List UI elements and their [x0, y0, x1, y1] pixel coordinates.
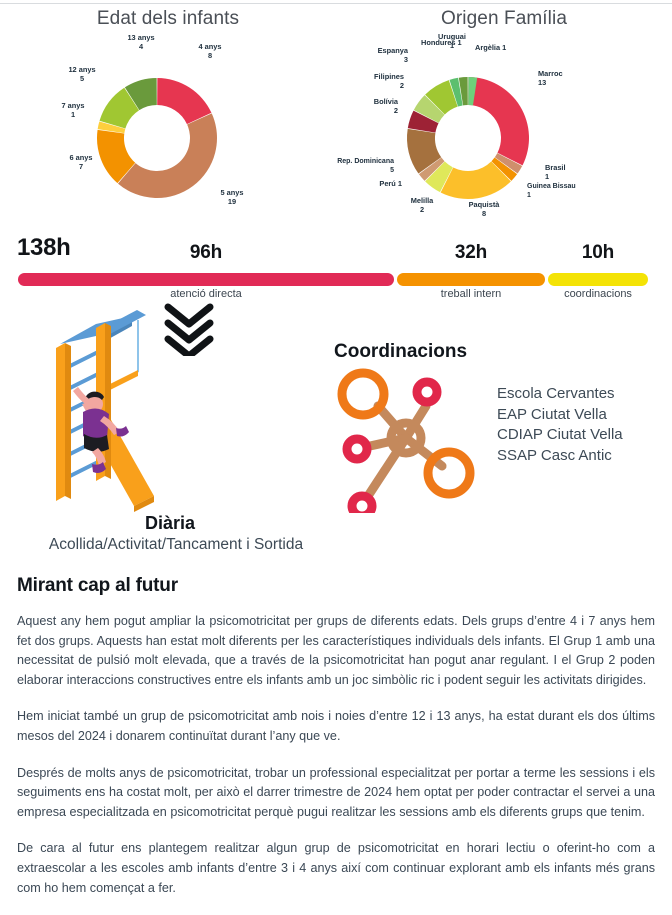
donut-slice-label: Bolívia2 [374, 97, 399, 115]
coordination-item: SSAP Casc Antic [497, 446, 669, 467]
donut-slice-label: Espanya3 [378, 46, 409, 64]
coordination-item: CDIAP Ciutat Vella [497, 425, 669, 446]
donut-slice-label: Perú 1 [379, 179, 402, 188]
hours-segment-label: coordinacions [548, 288, 648, 300]
donut-slice [468, 77, 529, 165]
article-paragraph: Aquest any hem pogut ampliar la psicomot… [17, 612, 655, 690]
daily-subtitle: Acollida/Activitat/Tancament i Sortida [0, 536, 352, 554]
top-divider [0, 3, 672, 4]
article-paragraph: Després de molts anys de psicomotricitat… [17, 764, 655, 823]
donut-slice-label: Melilla2 [411, 196, 434, 214]
donut-slices-origen [407, 77, 529, 199]
donut-edat: 4 anys85 anys196 anys77 anys112 anys513 … [0, 6, 336, 228]
playground-climbing-frame-icon [38, 300, 163, 515]
article-mirant-cap-al-futur: Mirant cap al futur Aquest any hem pogut… [17, 575, 655, 898]
donut-slice-label: 4 anys8 [198, 42, 221, 60]
network-hub-icon [334, 368, 484, 513]
hours-bar-segment [18, 273, 394, 286]
coordination-item: Escola Cervantes [497, 384, 669, 405]
chart-edat-dels-infants: Edat dels infants 4 anys85 anys196 anys7… [0, 6, 336, 228]
donut-origen: Marroc13Brasil1Guinea Bissau1Paquistà8Me… [336, 6, 672, 228]
hours-segment-label: atenció directa [18, 288, 394, 300]
hours-segment-value: 32h [397, 242, 545, 264]
donut-slice-label: 5 anys19 [220, 188, 243, 206]
donut-slice-label: Filipines2 [374, 72, 404, 90]
article-paragraph: Hem iniciat també un grup de psicomotric… [17, 707, 655, 746]
hours-bar-segment [548, 273, 648, 286]
donut-slice-label: 6 anys7 [69, 153, 92, 171]
charts-row: Edat dels infants 4 anys85 anys196 anys7… [0, 6, 672, 228]
donut-slice-label: 7 anys1 [61, 101, 84, 119]
donut-slice-label: 13 anys4 [127, 33, 154, 51]
donut-slice [118, 113, 217, 198]
coordinations-list: Escola CervantesEAP Ciutat VellaCDIAP Ci… [497, 384, 669, 466]
report-page: Edat dels infants 4 anys85 anys196 anys7… [0, 0, 672, 915]
hours-segment-value: 10h [548, 242, 648, 264]
article-heading: Mirant cap al futur [17, 575, 655, 597]
donut-slice-label: Marroc13 [538, 69, 563, 87]
hours-bar-segment [397, 273, 545, 286]
coordination-item: EAP Ciutat Vella [497, 405, 669, 426]
donut-slice-label: Brasil1 [545, 163, 566, 181]
donut-slices-edat [97, 78, 217, 198]
hours-summary: 138h 96hatenció directa32htreball intern… [0, 232, 672, 302]
daily-label: Diària [0, 513, 340, 534]
chart-origen-familia: Origen Família Marroc13Brasil1Guinea Bis… [336, 6, 672, 228]
coordinations-title: Coordinacions [334, 341, 467, 363]
triple-chevron-down-icon [158, 302, 220, 356]
donut-slice-label: Paquistà8 [469, 200, 501, 218]
hours-segment-value: 96h [18, 242, 394, 264]
article-paragraph: De cara al futur ens plantegem realitzar… [17, 839, 655, 898]
donut-slice-label: Guinea Bissau1 [527, 183, 576, 199]
hours-bar: 96hatenció directa32htreball intern10hco… [18, 273, 645, 286]
article-body: Aquest any hem pogut ampliar la psicomot… [17, 612, 655, 898]
hours-segment-label: treball intern [397, 288, 545, 300]
donut-slice-label: Rep. Dominicana5 [337, 158, 394, 174]
donut-slice-label: Argèlia 1 [475, 43, 506, 52]
donut-slice-label: 12 anys5 [68, 65, 95, 83]
